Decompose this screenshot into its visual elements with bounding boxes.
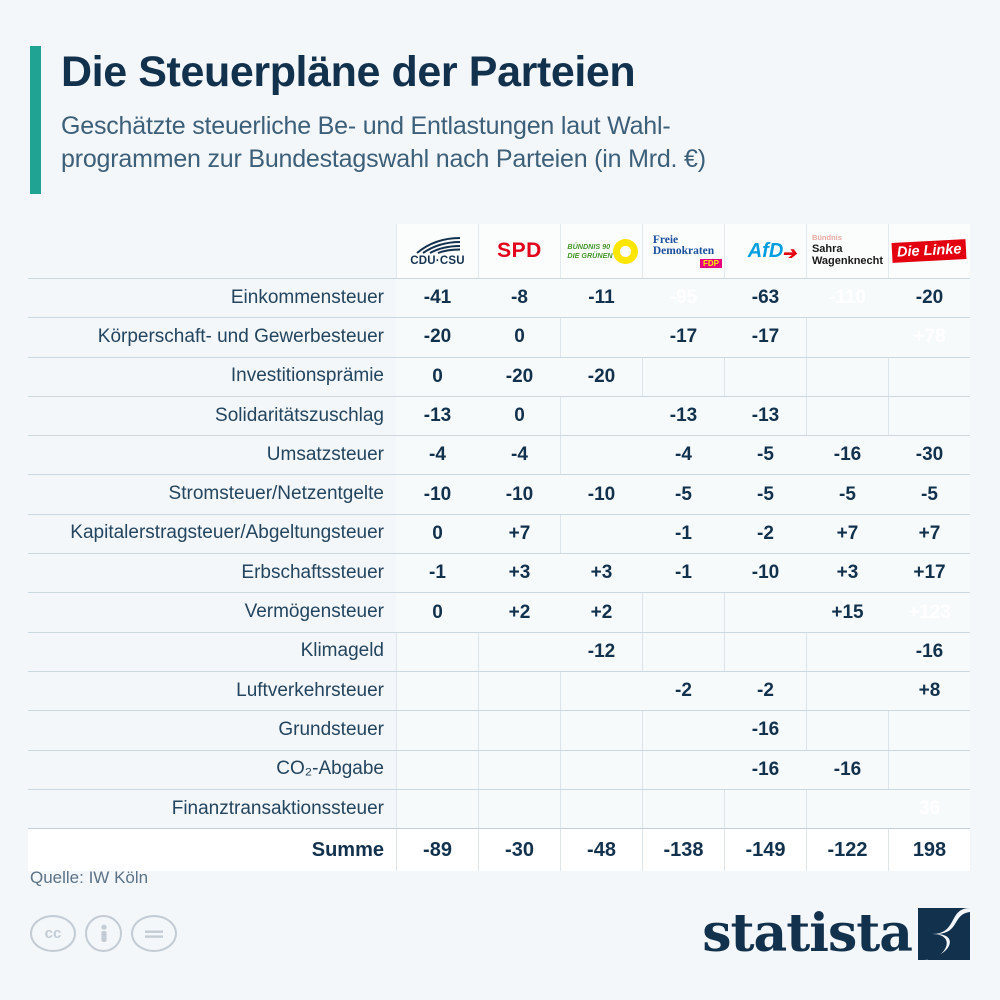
infographic-page: Die Steuerpläne der Parteien Geschätzte … — [0, 0, 1000, 1000]
value-cell-fdp: -1 — [642, 515, 724, 553]
value-cell-linke: 36 — [888, 790, 970, 828]
column-header-afd[interactable]: AfD ➔ — [724, 224, 806, 278]
value-cell-spd — [478, 790, 560, 828]
table-row: Grundsteuer-16 — [28, 711, 970, 749]
value-cell-linke: -16 — [888, 633, 970, 671]
header: Die Steuerpläne der Parteien Geschätzte … — [30, 46, 970, 194]
value-cell-gruene — [560, 790, 642, 828]
value-cell-afd: -5 — [724, 436, 806, 474]
column-header-linke[interactable]: Die Linke — [888, 224, 970, 278]
row-label: Luftverkehrsteuer — [28, 672, 396, 710]
value-cell-afd — [724, 593, 806, 631]
cdu-csu-logo-text: CDU·CSU — [410, 255, 464, 267]
bsw-logo-text: Bündnis Sahra Wagenknecht — [812, 234, 883, 267]
value-cell-bsw: -5 — [806, 475, 888, 513]
value-cell-bsw — [806, 358, 888, 396]
cdu-csu-mark-icon — [413, 236, 463, 255]
table-row: Luftverkehrsteuer-2-2+8 — [28, 672, 970, 710]
row-label: Körperschaft- und Gewerbesteuer — [28, 318, 396, 356]
value-cell-linke: +123 — [888, 593, 970, 631]
table-row: Investitionsprämie0-20-20 — [28, 358, 970, 396]
table-row: Umsatzsteuer-4-4-4-5-16-30 — [28, 436, 970, 474]
value-cell-afd: -17 — [724, 318, 806, 356]
value-cell-afd: -16 — [724, 751, 806, 789]
afd-arrow-icon: ➔ — [782, 244, 796, 264]
gruene-logo-inner: BÜNDNIS 90 DIE GRÜNEN — [567, 241, 635, 262]
value-cell-cducsu: -4 — [396, 436, 478, 474]
row-label: Umsatzsteuer — [28, 436, 396, 474]
afd-logo-text: AfD ➔ — [748, 240, 784, 263]
value-cell-spd: +3 — [478, 554, 560, 592]
value-cell-cducsu — [396, 790, 478, 828]
value-cell-linke — [888, 751, 970, 789]
row-label: Vermögensteuer — [28, 593, 396, 631]
value-cell-fdp: -5 — [642, 475, 724, 513]
table-body: Einkommensteuer-41-8-11-95-63-110-20Körp… — [28, 278, 970, 828]
value-cell-cducsu: -13 — [396, 397, 478, 435]
value-cell-gruene — [560, 397, 642, 435]
table-row: Vermögensteuer0+2+2+15+123 — [28, 593, 970, 631]
value-cell-bsw — [806, 711, 888, 749]
attribution-icon — [85, 915, 122, 952]
value-cell-cducsu — [396, 711, 478, 749]
bsw-logo-line-1: Bündnis — [812, 234, 883, 242]
sum-cell-bsw: -122 — [806, 829, 888, 871]
fdp-logo-text: Freie Demokraten — [653, 235, 714, 258]
row-label: Klimageld — [28, 633, 396, 671]
statista-wordmark: statista — [702, 908, 912, 960]
value-cell-fdp — [642, 711, 724, 749]
row-label: Finanztransaktionssteuer — [28, 790, 396, 828]
value-cell-spd: -10 — [478, 475, 560, 513]
value-cell-afd: -2 — [724, 672, 806, 710]
value-cell-gruene: +2 — [560, 593, 642, 631]
linke-logo: Die Linke — [891, 226, 968, 276]
gruene-logo-text: BÜNDNIS 90 DIE GRÜNEN — [567, 242, 612, 260]
value-cell-bsw — [806, 790, 888, 828]
source-note: Quelle: IW Köln — [30, 868, 148, 888]
sum-row: Summe -89 -30 -48 -138 -149 -122 198 — [28, 829, 970, 871]
table-row: Finanztransaktionssteuer36 — [28, 790, 970, 828]
value-cell-spd: +7 — [478, 515, 560, 553]
value-cell-linke: +7 — [888, 515, 970, 553]
value-cell-afd: -5 — [724, 475, 806, 513]
value-cell-spd: 0 — [478, 318, 560, 356]
value-cell-gruene — [560, 751, 642, 789]
value-cell-gruene — [560, 318, 642, 356]
value-cell-fdp: -13 — [642, 397, 724, 435]
sum-cell-spd: -30 — [478, 829, 560, 871]
value-cell-linke — [888, 711, 970, 749]
spd-logo-text: SPD — [497, 239, 542, 263]
column-header-cducsu[interactable]: CDU·CSU — [396, 224, 478, 278]
no-derivatives-icon — [131, 915, 177, 952]
value-cell-linke — [888, 397, 970, 435]
table-row: Körperschaft- und Gewerbesteuer-200-17-1… — [28, 318, 970, 356]
value-cell-gruene — [560, 711, 642, 749]
value-cell-spd — [478, 672, 560, 710]
value-cell-bsw: -16 — [806, 751, 888, 789]
row-label: Einkommensteuer — [28, 279, 396, 317]
row-label: Solidaritätszuschlag — [28, 397, 396, 435]
sum-cell-cducsu: -89 — [396, 829, 478, 871]
value-cell-cducsu: -20 — [396, 318, 478, 356]
row-label: Kapitalerstragsteuer/Abgeltungsteuer — [28, 515, 396, 553]
row-label: Erbschaftssteuer — [28, 554, 396, 592]
table-row: Stromsteuer/Netzentgelte-10-10-10-5-5-5-… — [28, 475, 970, 513]
value-cell-afd: -10 — [724, 554, 806, 592]
value-cell-spd — [478, 751, 560, 789]
value-cell-bsw: +15 — [806, 593, 888, 631]
afd-logo-label: AfD — [748, 240, 784, 262]
value-cell-bsw — [806, 672, 888, 710]
value-cell-fdp — [642, 358, 724, 396]
value-cell-afd: -13 — [724, 397, 806, 435]
value-cell-bsw — [806, 633, 888, 671]
value-cell-linke: -20 — [888, 279, 970, 317]
row-label: CO₂-Abgabe — [28, 751, 396, 789]
value-cell-linke: -30 — [888, 436, 970, 474]
value-cell-cducsu — [396, 672, 478, 710]
column-header-bsw[interactable]: Bündnis Sahra Wagenknecht — [806, 224, 888, 278]
value-cell-linke: +8 — [888, 672, 970, 710]
statista-logo: statista — [702, 908, 970, 960]
sum-cell-linke: 198 — [888, 829, 970, 871]
sum-cell-gruene: -48 — [560, 829, 642, 871]
value-cell-gruene: -12 — [560, 633, 642, 671]
value-cell-cducsu: 0 — [396, 515, 478, 553]
value-cell-bsw — [806, 397, 888, 435]
value-cell-fdp: -4 — [642, 436, 724, 474]
value-cell-spd — [478, 633, 560, 671]
value-cell-gruene: +3 — [560, 554, 642, 592]
value-cell-bsw: +7 — [806, 515, 888, 553]
value-cell-spd: 0 — [478, 397, 560, 435]
equals-glyph-icon — [144, 928, 164, 940]
cc-icon: cc — [30, 915, 76, 952]
row-label: Investitionsprämie — [28, 358, 396, 396]
license-icons: cc — [30, 915, 177, 952]
bsw-logo: Bündnis Sahra Wagenknecht — [809, 226, 886, 276]
value-cell-linke: +17 — [888, 554, 970, 592]
value-cell-spd: -8 — [478, 279, 560, 317]
value-cell-fdp — [642, 751, 724, 789]
value-cell-bsw: -16 — [806, 436, 888, 474]
spd-logo: SPD — [481, 226, 558, 276]
value-cell-spd — [478, 711, 560, 749]
gruene-logo-line-1: BÜNDNIS 90 — [567, 242, 612, 251]
value-cell-cducsu — [396, 633, 478, 671]
value-cell-bsw: -110 — [806, 279, 888, 317]
value-cell-linke: +78 — [888, 318, 970, 356]
value-cell-fdp — [642, 790, 724, 828]
value-cell-fdp: -1 — [642, 554, 724, 592]
value-cell-bsw: +3 — [806, 554, 888, 592]
subtitle-line-2: programmen zur Bundestagswahl nach Parte… — [61, 143, 706, 176]
subtitle-line-1: Geschätzte steuerliche Be- und Entlastun… — [61, 110, 706, 143]
fdp-logo: Freie Demokraten FDP — [645, 226, 722, 276]
table-row: Solidaritätszuschlag-130-13-13 — [28, 397, 970, 435]
person-glyph-icon — [97, 924, 111, 944]
value-cell-linke — [888, 358, 970, 396]
bsw-logo-line-3: Wagenknecht — [812, 255, 883, 267]
row-label: Grundsteuer — [28, 711, 396, 749]
value-cell-fdp — [642, 633, 724, 671]
page-title: Die Steuerpläne der Parteien — [61, 48, 706, 96]
statista-mark-icon — [918, 908, 970, 960]
sum-cell-fdp: -138 — [642, 829, 724, 871]
value-cell-fdp: -2 — [642, 672, 724, 710]
cdu-csu-logo: CDU·CSU — [399, 226, 476, 276]
value-cell-fdp: -17 — [642, 318, 724, 356]
value-cell-afd: -16 — [724, 711, 806, 749]
sum-row-label: Summe — [28, 829, 396, 871]
corner-cell — [28, 224, 396, 278]
value-cell-gruene — [560, 515, 642, 553]
value-cell-afd: -63 — [724, 279, 806, 317]
value-cell-fdp — [642, 593, 724, 631]
value-cell-bsw — [806, 318, 888, 356]
value-cell-gruene: -10 — [560, 475, 642, 513]
value-cell-afd: -2 — [724, 515, 806, 553]
table-row: Kapitalerstragsteuer/Abgeltungsteuer0+7-… — [28, 515, 970, 553]
value-cell-cducsu: -1 — [396, 554, 478, 592]
value-cell-gruene: -11 — [560, 279, 642, 317]
value-cell-gruene: -20 — [560, 358, 642, 396]
value-cell-spd: -4 — [478, 436, 560, 474]
value-cell-linke: -5 — [888, 475, 970, 513]
value-cell-fdp: -95 — [642, 279, 724, 317]
column-header-fdp[interactable]: Freie Demokraten FDP — [642, 224, 724, 278]
column-header-gruene[interactable]: BÜNDNIS 90 DIE GRÜNEN — [560, 224, 642, 278]
linke-logo-text: Die Linke — [892, 239, 967, 263]
value-cell-cducsu: -41 — [396, 279, 478, 317]
value-cell-cducsu: 0 — [396, 593, 478, 631]
row-label: Stromsteuer/Netzentgelte — [28, 475, 396, 513]
value-cell-cducsu: 0 — [396, 358, 478, 396]
tax-plans-table: CDU·CSU SPD BÜNDNIS 90 DIE GRÜNEN — [28, 224, 970, 871]
fdp-logo-badge: FDP — [700, 259, 722, 268]
sum-cell-afd: -149 — [724, 829, 806, 871]
value-cell-gruene — [560, 436, 642, 474]
value-cell-cducsu — [396, 751, 478, 789]
table-header-row: CDU·CSU SPD BÜNDNIS 90 DIE GRÜNEN — [28, 224, 970, 278]
table-row: CO₂-Abgabe-16-16 — [28, 751, 970, 789]
gruene-logo-line-2: DIE GRÜNEN — [567, 251, 612, 260]
value-cell-afd — [724, 633, 806, 671]
value-cell-afd — [724, 358, 806, 396]
afd-logo: AfD ➔ — [727, 226, 804, 276]
gruene-logo: BÜNDNIS 90 DIE GRÜNEN — [563, 226, 640, 276]
fdp-logo-line-2: Demokraten — [653, 246, 714, 258]
table-row: Klimageld-12-16 — [28, 633, 970, 671]
sunflower-icon — [615, 241, 636, 262]
column-header-spd[interactable]: SPD — [478, 224, 560, 278]
table-row: Einkommensteuer-41-8-11-95-63-110-20 — [28, 279, 970, 317]
value-cell-spd: +2 — [478, 593, 560, 631]
accent-bar — [30, 46, 41, 194]
bsw-logo-line-2: Sahra — [812, 243, 883, 255]
value-cell-gruene — [560, 672, 642, 710]
page-subtitle: Geschätzte steuerliche Be- und Entlastun… — [61, 110, 706, 177]
table-row: Erbschaftssteuer-1+3+3-1-10+3+17 — [28, 554, 970, 592]
value-cell-cducsu: -10 — [396, 475, 478, 513]
value-cell-afd — [724, 790, 806, 828]
value-cell-spd: -20 — [478, 358, 560, 396]
header-text: Die Steuerpläne der Parteien Geschätzte … — [61, 46, 706, 194]
